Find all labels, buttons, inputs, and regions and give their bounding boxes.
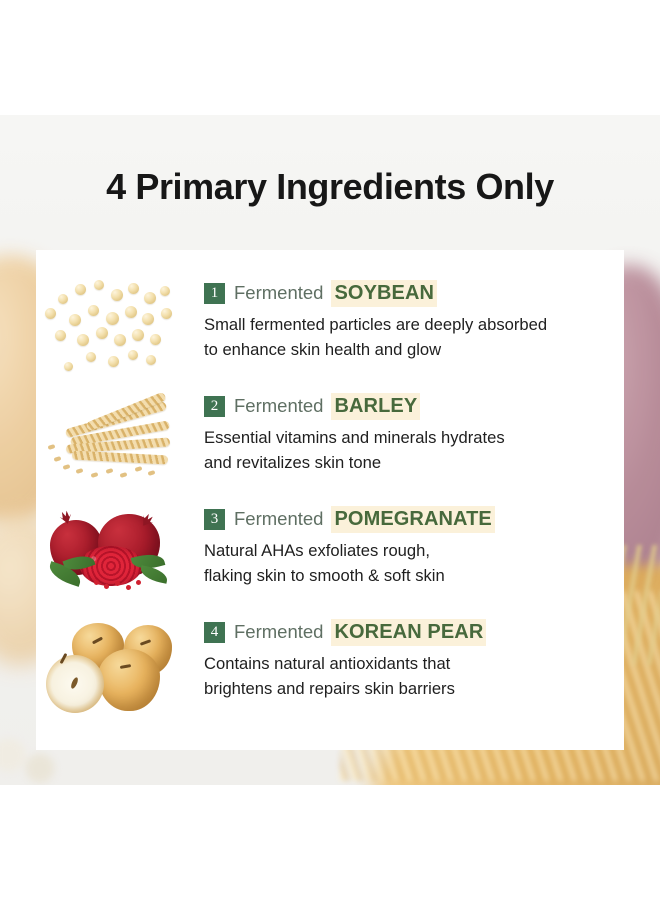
ingredient-copy: 2 Fermented BARLEY Essential vitamins an… — [204, 385, 624, 475]
ingredient-description: Natural AHAs exfoliates rough, flaking s… — [204, 538, 624, 588]
ingredient-number-badge: 1 — [204, 283, 225, 304]
ingredient-list: 1 Fermented SOYBEAN Small fermented part… — [36, 272, 624, 724]
ingredient-name: SOYBEAN — [331, 280, 437, 307]
description-line: and revitalizes skin tone — [204, 450, 624, 475]
ingredient-name: BARLEY — [331, 393, 420, 420]
ingredient-description: Contains natural antioxidants that brigh… — [204, 651, 624, 701]
ingredient-description: Small fermented particles are deeply abs… — [204, 312, 624, 362]
pomegranate-photo — [36, 498, 204, 606]
ingredient-name: POMEGRANATE — [331, 506, 494, 533]
description-line: Small fermented particles are deeply abs… — [204, 312, 624, 337]
description-line: flaking skin to smooth & soft skin — [204, 563, 624, 588]
ingredient-prefix: Fermented — [234, 508, 323, 530]
ingredient-copy: 1 Fermented SOYBEAN Small fermented part… — [204, 272, 624, 362]
ingredient-prefix: Fermented — [234, 282, 323, 304]
ingredient-name: KOREAN PEAR — [331, 619, 486, 646]
ingredient-prefix: Fermented — [234, 621, 323, 643]
ingredient-title: 4 Fermented KOREAN PEAR — [204, 619, 624, 645]
list-item: 1 Fermented SOYBEAN Small fermented part… — [36, 272, 624, 385]
description-line: brightens and repairs skin barriers — [204, 676, 624, 701]
description-line: Contains natural antioxidants that — [204, 651, 624, 676]
ingredient-number-badge: 3 — [204, 509, 225, 530]
soybeans-photo — [36, 272, 204, 380]
korean-pear-photo — [36, 611, 204, 719]
description-line: Essential vitamins and minerals hydrates — [204, 425, 624, 450]
ingredient-number-badge: 2 — [204, 396, 225, 417]
ingredient-title: 1 Fermented SOYBEAN — [204, 280, 624, 306]
ingredient-copy: 3 Fermented POMEGRANATE Natural AHAs exf… — [204, 498, 624, 588]
description-line: Natural AHAs exfoliates rough, — [204, 538, 624, 563]
ingredient-prefix: Fermented — [234, 395, 323, 417]
ingredients-infographic: 4 Primary Ingredients Only — [0, 0, 660, 900]
description-line: to enhance skin health and glow — [204, 337, 624, 362]
barley-ears-photo — [36, 385, 204, 493]
list-item: 3 Fermented POMEGRANATE Natural AHAs exf… — [36, 498, 624, 611]
ingredient-copy: 4 Fermented KOREAN PEAR Contains natural… — [204, 611, 624, 701]
ingredient-title: 3 Fermented POMEGRANATE — [204, 506, 624, 532]
page-title: 4 Primary Ingredients Only — [0, 166, 660, 208]
ingredient-number-badge: 4 — [204, 622, 225, 643]
list-item: 4 Fermented KOREAN PEAR Contains natural… — [36, 611, 624, 724]
list-item: 2 Fermented BARLEY Essential vitamins an… — [36, 385, 624, 498]
ingredient-title: 2 Fermented BARLEY — [204, 393, 624, 419]
ingredient-description: Essential vitamins and minerals hydrates… — [204, 425, 624, 475]
